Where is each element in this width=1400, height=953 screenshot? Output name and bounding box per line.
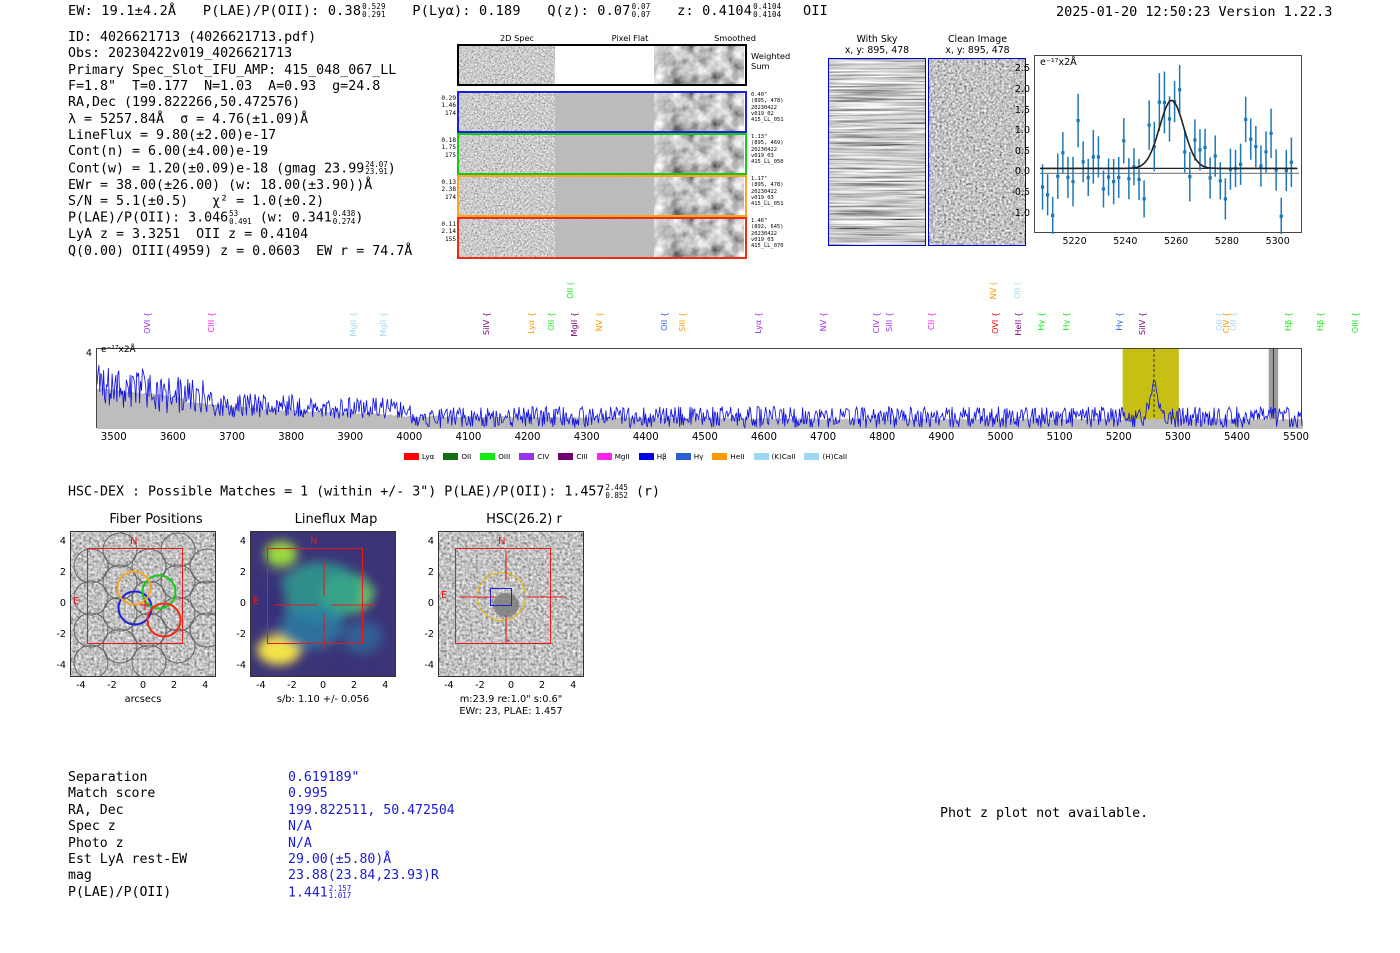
spectrum-xtick: 4700 (799, 432, 847, 443)
info-cont-w: Cont(w) = 1.20(±0.09)e-18 (gmag 23.9924.… (68, 161, 412, 178)
linefit-ytick: 0.5 (986, 146, 1030, 157)
fiber3-2dspec-image (459, 177, 555, 215)
spectrum-ytick-4: 4 (78, 348, 92, 359)
fiber4-smoothed-image (654, 219, 744, 257)
spectrum-xtick: 5300 (1154, 432, 1202, 443)
linefit-xtick: 5280 (1205, 236, 1249, 247)
info-obs: Obs: 20230422v019_4026621713 (68, 46, 412, 62)
timestamp: 2025-01-20 12:50:23 Version 1.22.3 (1056, 4, 1332, 20)
fiber2-pixelflat-image (555, 135, 654, 173)
legend-item: Hβ (639, 452, 667, 461)
spectrum-xtick: 3500 (90, 432, 138, 443)
fiber2-values: 0.18 1.75 175 (420, 137, 456, 159)
spectrum-line-label: SiII { (884, 312, 894, 332)
info-cont-n: Cont(n) = 6.00(±4.00)e-19 (68, 144, 412, 160)
fiber-positions-north-label: N (130, 536, 137, 547)
spectrum-line-label: OII ( (1012, 282, 1022, 299)
hsc-dex-range: 2.4450.852 (605, 484, 628, 499)
spectrum-line-label: CII { (926, 312, 936, 330)
header-qz: Q(z): 0.07 (547, 3, 630, 19)
with-sky-image (828, 58, 926, 246)
legend-swatch (519, 453, 534, 460)
panel-title-hsc-r: HSC(26.2) r (428, 512, 620, 527)
clean-image-title: Clean Image (910, 34, 1045, 45)
panel-ytick: 2 (44, 567, 66, 578)
fiber-positions-east-label: E (73, 596, 79, 607)
cutout-row-fiber-1 (457, 91, 747, 133)
match-key: Match score (68, 786, 155, 802)
weighted-pixelflat-image (555, 46, 654, 84)
legend-label: CIV (537, 452, 549, 461)
spectrum-xtick: 4800 (858, 432, 906, 443)
panel-xtick: 4 (371, 680, 399, 691)
spectrum-xtick: 3700 (208, 432, 256, 443)
linefit-xtick: 5220 (1053, 236, 1097, 247)
cutout-title-pixelflat: Pixel Flat (575, 33, 685, 43)
spectrum-line-label: MgII { (378, 312, 388, 337)
legend-swatch (443, 453, 458, 460)
legend-swatch (754, 453, 769, 460)
spectrum-legend: Lyα OII OIII CIV CIII MgII Hβ Hγ HeII (K… (404, 452, 847, 461)
fiber2-label: 1.13" (895, 469) 20230422 v019_03 415_LL… (751, 134, 783, 165)
spectrum-xtick: 4300 (563, 432, 611, 443)
spectrum-line-label: CIV { (871, 312, 881, 333)
panel-xtick: 4 (559, 680, 587, 691)
legend-label: OIII (498, 452, 510, 461)
fiber1-label: 0.40" (895, 478) 20230422 v019_02 415_LL… (751, 92, 783, 123)
fiber-positions-redbox (87, 548, 183, 644)
panel-ytick: 0 (412, 598, 434, 609)
panel-xtick: 2 (528, 680, 556, 691)
hsc-dex-filter: (r) (636, 485, 660, 500)
match-key: Photo z (68, 836, 124, 852)
spectrum-xtick: 4400 (622, 432, 670, 443)
cutout-row-fiber-3 (457, 175, 747, 217)
object-info-block: ID: 4026621713 (4026621713.pdf) Obs: 202… (68, 30, 412, 260)
photz-note: Phot z plot not available. (940, 806, 1148, 821)
lineflux-map-east-label: E (253, 596, 259, 607)
full-spectrum-plot (96, 348, 1302, 428)
spectral-cutouts-panel: 2D Spec Pixel Flat Smoothed Weighted Sum… (425, 33, 815, 263)
legend-swatch (597, 453, 612, 460)
hsc-r-caption-2: EWr: 23, PLAE: 1.457 (426, 706, 596, 717)
legend-label: HeII (730, 452, 744, 461)
spectrum-line-label: SiIV { (1137, 312, 1147, 335)
match-key: Separation (68, 770, 147, 786)
fiber4-pixelflat-image (555, 219, 654, 257)
spectrum-line-label: CIII { (206, 312, 216, 333)
fiber4-2dspec-image (459, 219, 555, 257)
panel-title-fiber-positions: Fiber Positions (60, 512, 252, 527)
spectrum-line-label: OIII { (1350, 312, 1360, 333)
hsc-dex-text: HSC-DEX : Possible Matches = 1 (within +… (68, 485, 604, 500)
spectrum-unit-label: e⁻¹⁷x2Å (101, 345, 136, 355)
linefit-ytick: 1.5 (986, 105, 1030, 116)
spectrum-line-label: Lyα { (753, 312, 763, 334)
legend-label: Lyα (422, 452, 434, 461)
panel-ytick: 0 (224, 598, 246, 609)
panel-xtick: -4 (435, 680, 463, 691)
spectrum-line-label: SiII { (677, 312, 687, 332)
panel-xtick: -4 (247, 680, 275, 691)
header-summary: EW: 19.1±4.2Å P(LAE)/P(OII): 0.380.5290.… (68, 3, 828, 19)
linefit-xtick: 5240 (1103, 236, 1147, 247)
spectrum-line-label: MgII { (569, 312, 579, 337)
emission-line-fit-plot (1034, 55, 1302, 233)
legend-item: HeII (712, 452, 744, 461)
header-z-species: OII (803, 3, 828, 19)
fiber3-pixelflat-image (555, 177, 654, 215)
cutout-row-fiber-2 (457, 133, 747, 175)
fiber4-label: 1.46" (892, 645) 20230422 v019_03 415_LL… (751, 218, 783, 249)
spectrum-xtick: 4500 (681, 432, 729, 443)
legend-item: CIII (558, 452, 587, 461)
legend-item: Lyα (404, 452, 434, 461)
fiber3-label: 1.17" (895, 478) 20230422 v019_03 415_LL… (751, 176, 783, 207)
spectrum-line-label: Lyα { (526, 312, 536, 334)
spectrum-xtick: 4100 (444, 432, 492, 443)
panel-ytick: 2 (412, 567, 434, 578)
spectrum-line-label: NV { (818, 312, 828, 331)
spectrum-line-label: NV { (594, 312, 604, 331)
legend-swatch (558, 453, 573, 460)
spectrum-line-label: OII { (659, 312, 669, 331)
fiber3-smoothed-image (654, 177, 744, 215)
lineflux-map-caption: s/b: 1.10 +/- 0.056 (238, 694, 408, 705)
panel-ytick: -2 (412, 629, 434, 640)
legend-item: OIII (480, 452, 510, 461)
spectrum-line-label: SiIV { (481, 312, 491, 335)
panel-xtick: -2 (98, 680, 126, 691)
panel-ytick: -2 (224, 629, 246, 640)
cutout-title-smoothed: Smoothed (680, 33, 790, 43)
match-value: N/A (288, 819, 312, 835)
panel-xtick: -2 (278, 680, 306, 691)
info-radec: RA,Dec (199.822266,50.472576) (68, 95, 412, 111)
match-value: 1.4412.1571.017 (288, 885, 351, 902)
match-key: P(LAE)/P(OII) (68, 885, 171, 901)
legend-label: CIII (576, 452, 587, 461)
match-value: 23.88(23.84,23.93)R (288, 868, 439, 884)
legend-label: Hγ (694, 452, 704, 461)
info-redshifts: LyA z = 3.3251 OII z = 0.4104 (68, 227, 412, 243)
legend-item: (K)CaII (754, 452, 796, 461)
panel-ytick: 4 (224, 536, 246, 547)
fiber2-smoothed-image (654, 135, 744, 173)
spectrum-xtick: 3900 (326, 432, 374, 443)
fiber-positions-caption: arcsecs (70, 694, 216, 705)
match-key: Est LyA rest-EW (68, 852, 187, 868)
spectrum-line-label: MgII { (348, 312, 358, 337)
linefit-ytick: -1.0 (986, 208, 1030, 219)
spectrum-line-label: OVI { (142, 312, 152, 334)
header-plae-range: 0.5290.291 (362, 3, 386, 18)
legend-label: Hβ (657, 452, 667, 461)
header-ew: EW: 19.1±4.2Å (68, 3, 176, 19)
legend-item: Hγ (676, 452, 704, 461)
legend-swatch (480, 453, 495, 460)
panel-xtick: 0 (309, 680, 337, 691)
header-z-range: 0.41040.4104 (753, 3, 781, 18)
legend-swatch (676, 453, 691, 460)
fiber4-values: 0.11 2.14 155 (420, 221, 456, 243)
cutout-row-fiber-4 (457, 217, 747, 259)
info-q: Q(0.00) OIII(4959) z = 0.0603 EW r = 74.… (68, 244, 412, 260)
hsc-r-north-label: N (498, 536, 505, 547)
linefit-ytick: -0.5 (986, 187, 1030, 198)
info-id: ID: 4026621713 (4026621713.pdf) (68, 30, 412, 46)
spectrum-xtick: 4900 (917, 432, 965, 443)
match-key: mag (68, 868, 92, 884)
hsc-dex-summary: HSC-DEX : Possible Matches = 1 (within +… (68, 484, 660, 500)
legend-item: OII (443, 452, 471, 461)
lineflux-map-redbox (267, 548, 363, 644)
match-value: 199.822511, 50.472504 (288, 803, 455, 819)
hsc-r-east-label: E (441, 590, 447, 601)
linefit-ytick: 2.0 (986, 84, 1030, 95)
info-lambda: λ = 5257.84Å σ = 4.76(±1.09)Å (68, 112, 412, 128)
spectrum-line-label: Hβ { (1283, 312, 1293, 331)
legend-swatch (404, 453, 419, 460)
legend-label: OII (461, 452, 471, 461)
info-ewr: EWr = 38.00(±26.00) (w: 18.00(±3.90))Å (68, 178, 412, 194)
spectrum-line-label: HeII { (1013, 312, 1023, 336)
linefit-ytick: 2.5 (986, 63, 1030, 74)
panel-xtick: 2 (340, 680, 368, 691)
spectrum-xtick: 5500 (1272, 432, 1320, 443)
info-sn: S/N = 5.1(±0.5) χ² = 1.0(±0.2) (68, 194, 412, 210)
panel-ytick: 0 (44, 598, 66, 609)
info-lineflux: LineFlux = 9.80(±2.00)e-17 (68, 128, 412, 144)
spectrum-xtick: 3800 (267, 432, 315, 443)
weighted-2dspec-image (459, 46, 555, 84)
panel-xtick: 0 (129, 680, 157, 691)
header-plya: P(Lyα): 0.189 (412, 3, 520, 19)
linefit-xtick: 5260 (1154, 236, 1198, 247)
hsc-r-crosshair (438, 531, 584, 677)
spectrum-xtick: 4000 (385, 432, 433, 443)
legend-swatch (712, 453, 727, 460)
match-value: 0.619189" (288, 770, 359, 786)
linefit-unit-label: e⁻¹⁷x2Å (1040, 57, 1077, 68)
header-z: z: 0.4104 (677, 3, 752, 19)
fiber2-2dspec-image (459, 135, 555, 173)
spectrum-xtick: 5100 (1036, 432, 1084, 443)
legend-label: MgII (615, 452, 630, 461)
fiber1-smoothed-image (654, 93, 744, 131)
header-plae-label: P(LAE)/P(OII): 0.38 (203, 3, 361, 19)
match-value: 29.00(±5.80)Å (288, 852, 391, 868)
spectrum-line-label: OVI { (990, 312, 1000, 334)
panel-xtick: 0 (497, 680, 525, 691)
spectrum-line-label: NV ( (988, 282, 998, 299)
fiber1-values: 0.29 1.46 174 (420, 95, 456, 117)
info-plae: P(LAE)/P(OII): 3.046530.491 (w: 0.3410.4… (68, 210, 412, 227)
panel-ytick: -4 (44, 660, 66, 671)
spectrum-line-label: Hγ { (1036, 312, 1046, 331)
cutout-title-2dspec: 2D Spec (457, 33, 577, 43)
legend-item: CIV (519, 452, 549, 461)
linefit-ytick: 0.0 (986, 166, 1030, 177)
lineflux-map-north-label: N (310, 536, 317, 547)
spectrum-xtick: 5200 (1095, 432, 1143, 443)
match-key: Spec z (68, 819, 116, 835)
cutout-row-weighted-sum (457, 44, 747, 86)
hsc-r-caption: m:23.9 re:1.0" s:0.6" (426, 694, 596, 705)
weighted-smoothed-image (654, 46, 744, 84)
spectrum-xtick: 5000 (977, 432, 1025, 443)
legend-item: MgII (597, 452, 630, 461)
header-qz-range: 0.070.07 (632, 3, 651, 18)
spectrum-line-label: CIV { (1221, 312, 1231, 333)
spectrum-line-label: OII { (546, 312, 556, 331)
info-seeing: F=1.8" T=0.177 N=1.03 A=0.93 g=24.8 (68, 79, 412, 95)
legend-label: (H)CaII (822, 452, 847, 461)
panel-xtick: 4 (191, 680, 219, 691)
legend-swatch (639, 453, 654, 460)
panel-ytick: -2 (44, 629, 66, 640)
match-value: 0.995 (288, 786, 328, 802)
spectrum-xtick: 5400 (1213, 432, 1261, 443)
panel-xtick: 2 (160, 680, 188, 691)
fiber3-values: 0.13 2.38 174 (420, 179, 456, 201)
spectrum-xtick: 4200 (504, 432, 552, 443)
spectrum-xtick: 4600 (740, 432, 788, 443)
linefit-xtick: 5300 (1256, 236, 1300, 247)
spectrum-line-label: Hγ { (1061, 312, 1071, 331)
spectrum-line-label: Hγ { (1114, 312, 1124, 331)
legend-swatch (804, 453, 819, 460)
panel-xtick: -4 (67, 680, 95, 691)
spectrum-line-label: Hβ { (1315, 312, 1325, 331)
info-primary: Primary Spec_Slot_IFU_AMP: 415_048_067_L… (68, 63, 412, 79)
panel-ytick: -4 (412, 660, 434, 671)
match-key: RA, Dec (68, 803, 124, 819)
spectrum-line-label: OII ( (565, 282, 575, 299)
match-value: N/A (288, 836, 312, 852)
fiber1-pixelflat-image (555, 93, 654, 131)
panel-ytick: 2 (224, 567, 246, 578)
weighted-sum-label: Weighted Sum (751, 52, 790, 71)
clean-image-coords: x, y: 895, 478 (910, 45, 1045, 56)
legend-item: (H)CaII (804, 452, 847, 461)
fiber1-2dspec-image (459, 93, 555, 131)
legend-label: (K)CaII (772, 452, 796, 461)
panel-xtick: -2 (466, 680, 494, 691)
panel-ytick: 4 (412, 536, 434, 547)
panel-ytick: 4 (44, 536, 66, 547)
panel-ytick: -4 (224, 660, 246, 671)
linefit-ytick: 1.0 (986, 125, 1030, 136)
spectrum-xtick: 3600 (149, 432, 197, 443)
panel-title-lineflux-map: Lineflux Map (240, 512, 432, 527)
